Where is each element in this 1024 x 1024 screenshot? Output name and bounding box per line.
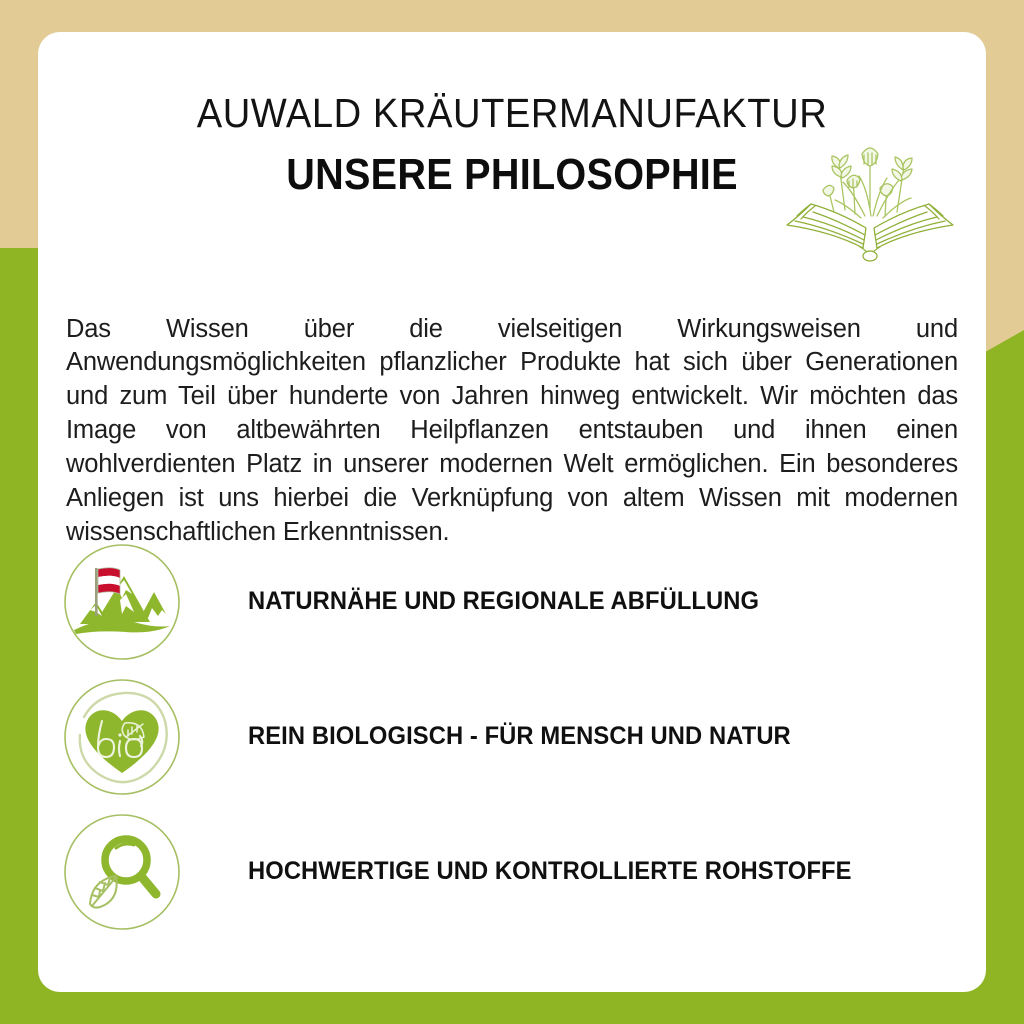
feature-label-rohstoffe: HOCHWERTIGE UND KONTROLLIERTE ROHSTOFFE <box>248 857 852 886</box>
philosophy-poster: AUWALD KRÄUTERMANUFAKTUR UNSERE PHILOSOP… <box>0 0 1024 1024</box>
feature-item-naturnaehe: NATURNÄHE UND REGIONALE ABFÜLLUNG <box>62 534 962 669</box>
poster-header: AUWALD KRÄUTERMANUFAKTUR UNSERE PHILOSOP… <box>38 32 986 247</box>
feature-label-bio: REIN BIOLOGISCH - FÜR MENSCH UND NATUR <box>248 722 791 751</box>
magnifier-with-leaf-icon <box>62 812 182 932</box>
feature-label-naturnaehe: NATURNÄHE UND REGIONALE ABFÜLLUNG <box>248 587 759 616</box>
open-book-with-herbs-icon <box>773 136 968 268</box>
bio-heart-leaf-icon <box>62 677 182 797</box>
feature-item-bio: REIN BIOLOGISCH - FÜR MENSCH UND NATUR <box>62 669 962 804</box>
feature-list: NATURNÄHE UND REGIONALE ABFÜLLUNG <box>62 534 962 939</box>
feature-item-rohstoffe: HOCHWERTIGE UND KONTROLLIERTE ROHSTOFFE <box>62 804 962 939</box>
brand-name: AUWALD KRÄUTERMANUFAKTUR <box>71 90 953 137</box>
mountains-with-austrian-flag-icon <box>62 542 182 662</box>
content-card: AUWALD KRÄUTERMANUFAKTUR UNSERE PHILOSOP… <box>38 32 986 992</box>
philosophy-paragraph: Das Wissen über die vielseitigen Wirkung… <box>66 313 958 550</box>
